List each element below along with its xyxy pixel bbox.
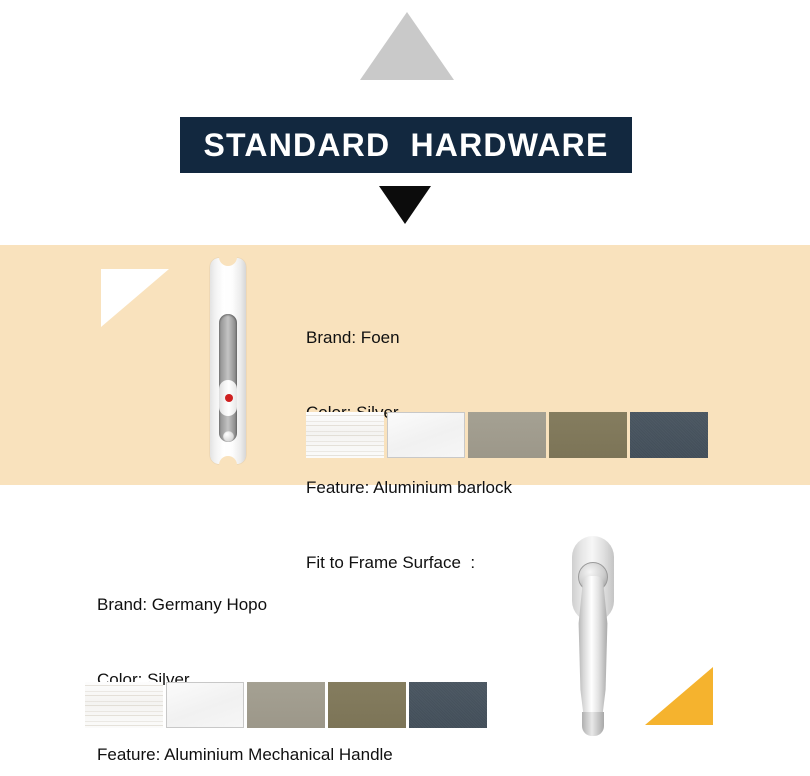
swatch-plain-white[interactable] — [387, 412, 465, 458]
swatch-white-wood-grain[interactable] — [306, 412, 384, 458]
spec-feature: Feature: Aluminium barlock — [306, 475, 512, 500]
page-title: STANDARD HARDWARE — [204, 127, 609, 164]
product-image-aluminium-mechanical-handle — [558, 536, 628, 736]
barlock-brand-emboss — [217, 288, 239, 295]
handle-lever — [578, 576, 608, 734]
swatch-warm-gray[interactable] — [247, 682, 325, 728]
swatch-slate-blue-gray[interactable] — [630, 412, 708, 458]
decorative-corner-white — [101, 269, 169, 327]
spec-feature: Feature: Aluminium Mechanical Handle — [97, 742, 393, 767]
barlock-screw-hole-icon — [223, 431, 234, 442]
finish-swatch-row-handle — [85, 682, 487, 728]
swatch-warm-gray[interactable] — [468, 412, 546, 458]
spec-brand: Brand: Germany Hopo — [97, 592, 393, 617]
swatch-olive-khaki[interactable] — [328, 682, 406, 728]
swatch-olive-khaki[interactable] — [549, 412, 627, 458]
banner: STANDARD HARDWARE — [180, 117, 632, 173]
spec-block-handle: Brand: Germany Hopo Color: Silver Featur… — [97, 542, 393, 776]
spec-brand: Brand: Foen — [306, 325, 512, 350]
header-section: STANDARD HARDWARE — [0, 0, 810, 245]
swatch-white-wood-grain[interactable] — [85, 682, 163, 728]
triangle-up-icon — [360, 12, 454, 80]
product-image-aluminium-barlock — [210, 258, 246, 464]
triangle-down-icon — [379, 186, 431, 224]
decorative-corner-gold — [645, 667, 713, 725]
product-spec-page: STANDARD HARDWARE Brand: Foen Color: Sil… — [0, 0, 810, 776]
barlock-red-indicator-icon — [225, 394, 233, 402]
swatch-slate-blue-gray[interactable] — [409, 682, 487, 728]
handle-lever-tip — [582, 712, 604, 736]
barlock-slot-channel — [219, 314, 237, 442]
finish-swatch-row-barlock — [306, 412, 708, 458]
swatch-plain-white[interactable] — [166, 682, 244, 728]
